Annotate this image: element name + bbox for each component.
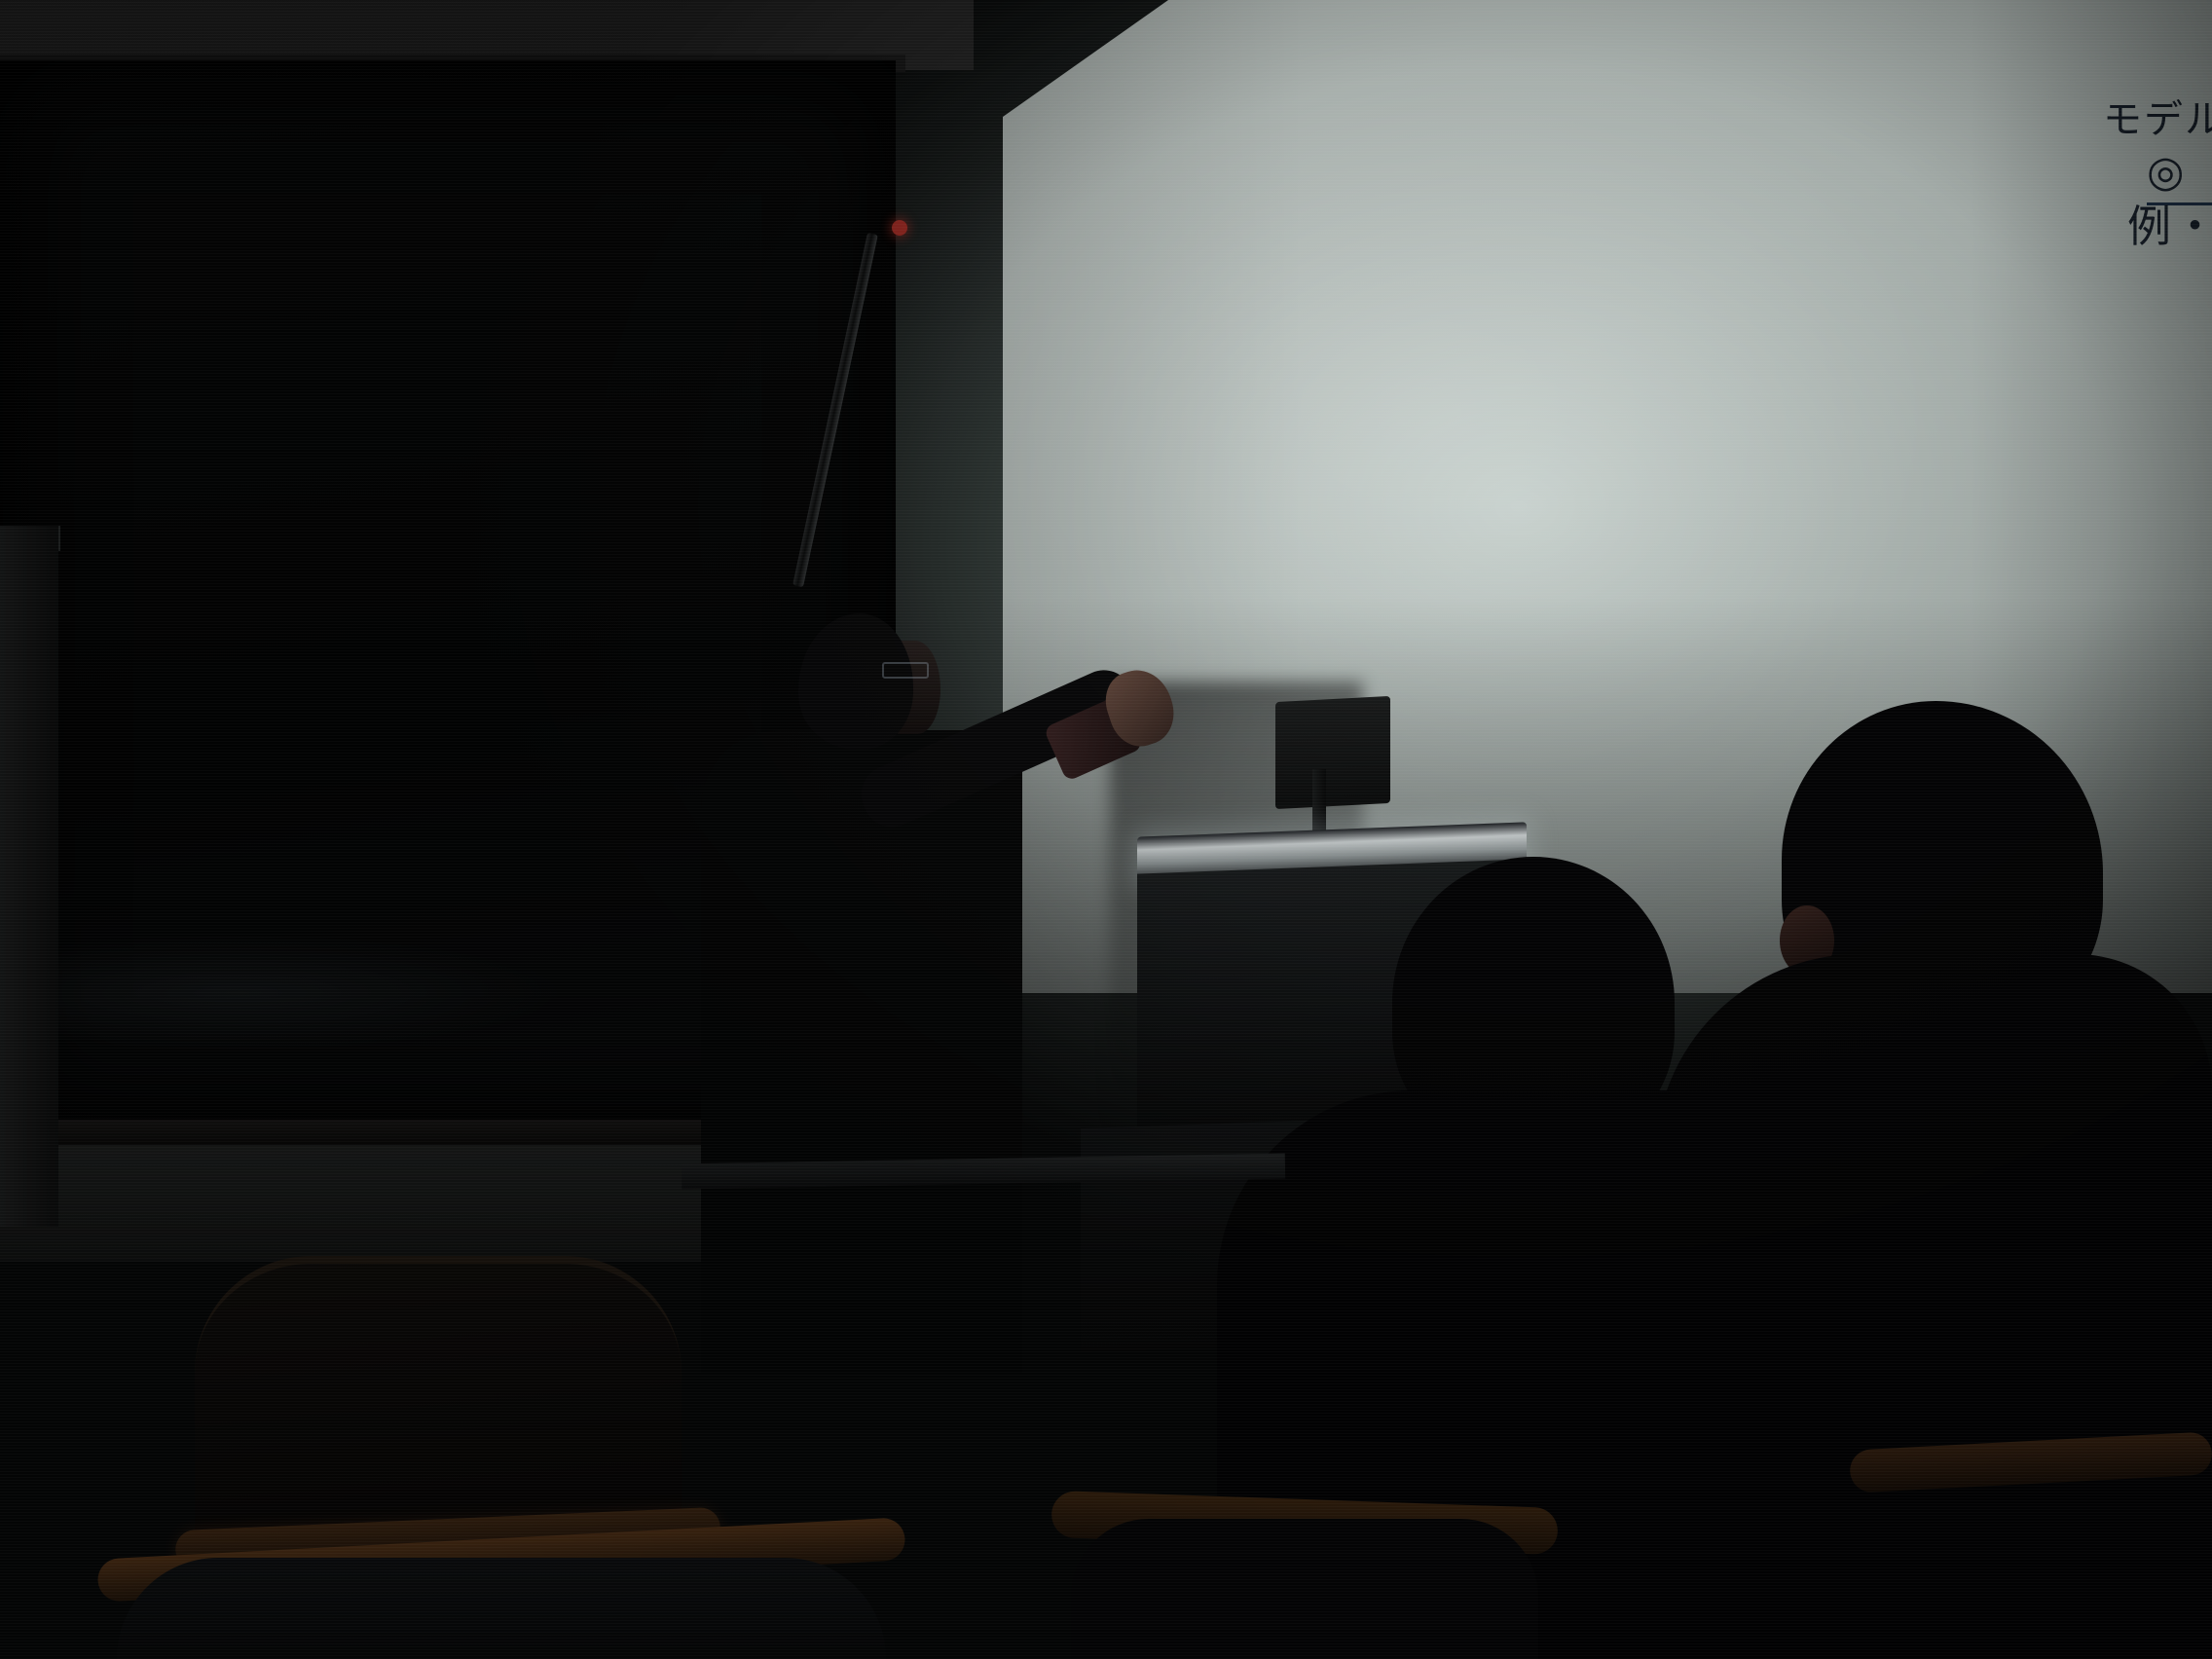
presenter — [682, 584, 1188, 1363]
pointer-tip-icon — [892, 220, 907, 236]
chair-back-3 — [1071, 1519, 1538, 1659]
projector-head — [1275, 696, 1390, 809]
presenter-head — [798, 613, 913, 750]
chair-seat-2 — [117, 1558, 886, 1659]
blackboard-glint — [19, 935, 565, 1051]
lecture-room-photo: モデル作成の前に・・・ ◎ 「ブーム」の観察 例・１９７３年〜 “インスタントラ… — [0, 0, 2212, 1659]
presenter-body — [701, 730, 1022, 1373]
side-cabinet — [0, 526, 58, 1227]
presenter-glasses — [882, 662, 929, 679]
slide-line-3: 例・１９７３年〜 “インスタントラーメンブーム” — [2127, 191, 2212, 254]
audience-member-2-body — [1655, 954, 2212, 1659]
double-circle-icon: ◎ — [2147, 148, 2187, 196]
